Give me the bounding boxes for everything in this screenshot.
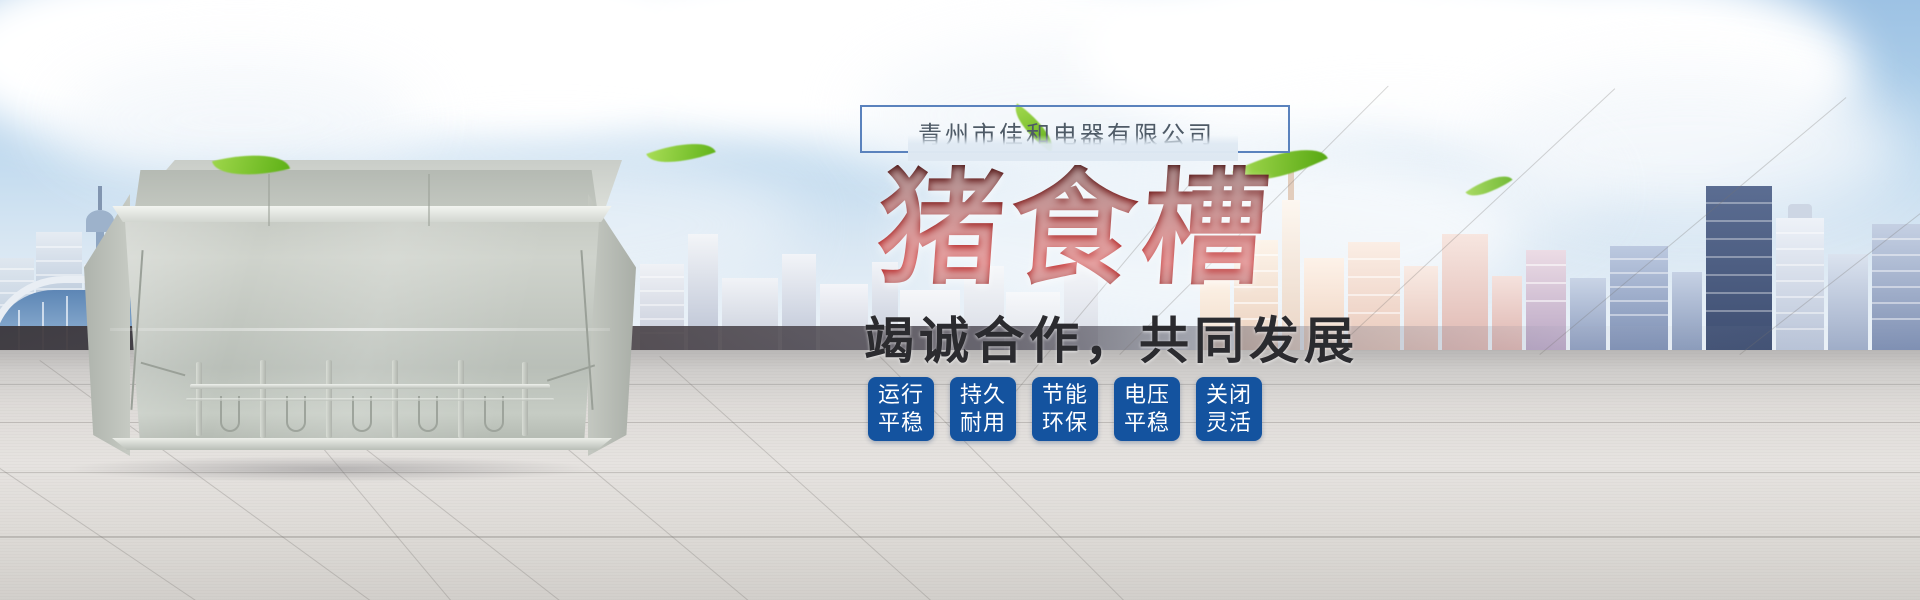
feature-badge-list: 运行 平稳 持久 耐用 节能 环保 电压 平稳 关闭 灵活 [868, 377, 1262, 441]
feature-badge-0-line2: 平稳 [878, 409, 924, 437]
feature-badge-3-line2: 平稳 [1124, 409, 1170, 437]
main-title: 猪食槽 [874, 165, 1279, 291]
feature-badge-2-line1: 节能 [1042, 381, 1088, 409]
feature-badge-2-line2: 环保 [1042, 409, 1088, 437]
feature-badge-4-line2: 灵活 [1206, 409, 1252, 437]
feature-badge-1-line1: 持久 [960, 381, 1006, 409]
company-name-frame: 青州市佳和电器有限公司 [860, 105, 1290, 159]
feature-badge-0[interactable]: 运行 平稳 [868, 377, 934, 441]
feature-badge-3-line1: 电压 [1124, 381, 1170, 409]
product-image-pig-feeder-trough [80, 160, 640, 480]
feature-badge-4-line1: 关闭 [1206, 381, 1252, 409]
promo-banner: 青州市佳和电器有限公司 猪食槽 竭诚合作，共同发展 运行 平稳 持久 耐用 节能… [0, 0, 1920, 600]
feature-badge-3[interactable]: 电压 平稳 [1114, 377, 1180, 441]
feature-badge-1[interactable]: 持久 耐用 [950, 377, 1016, 441]
feature-badge-0-line1: 运行 [878, 381, 924, 409]
feature-badge-4[interactable]: 关闭 灵活 [1196, 377, 1262, 441]
feature-badge-1-line2: 耐用 [960, 409, 1006, 437]
banner-text-block: 青州市佳和电器有限公司 猪食槽 竭诚合作，共同发展 运行 平稳 持久 耐用 节能… [850, 105, 1490, 565]
subtitle: 竭诚合作，共同发展 [864, 301, 1359, 373]
feature-badge-2[interactable]: 节能 环保 [1032, 377, 1098, 441]
